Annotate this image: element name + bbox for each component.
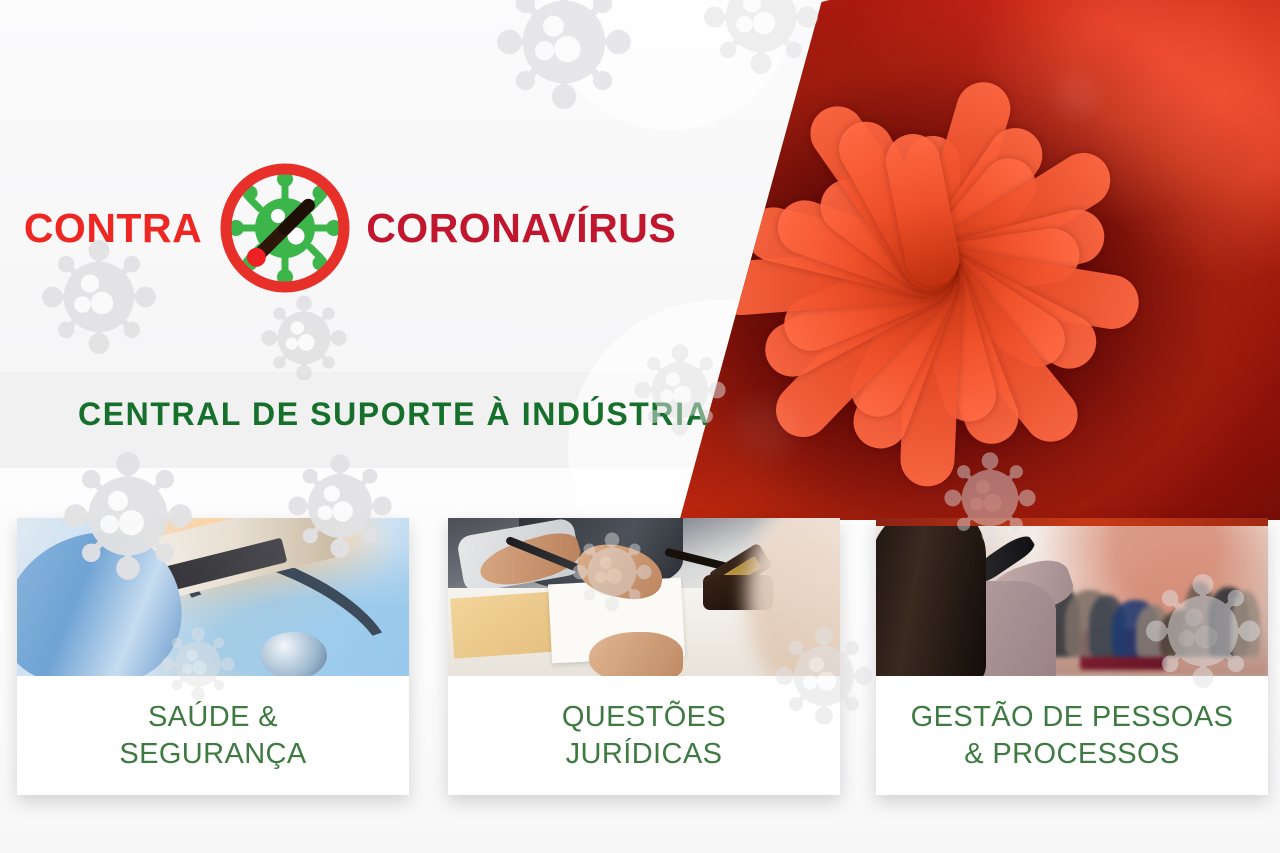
card-caption: GESTÃO DE PESSOAS & PROCESSOS [876, 676, 1268, 795]
brand-word-coronavirus: CORONAVÍRUS [366, 208, 676, 249]
poster-canvas: CONTRA [0, 0, 1280, 853]
card-thumbnail-legal [448, 518, 840, 676]
card-thumbnail-health [17, 518, 409, 676]
no-virus-prohibition-icon [218, 152, 352, 304]
card-caption: QUESTÕES JURÍDICAS [448, 676, 840, 795]
brand-word-contra: CONTRA [24, 208, 202, 249]
card-label-saude-seguranca: SAÚDE & SEGURANÇA [119, 699, 306, 772]
category-card-saude-seguranca[interactable]: SAÚDE & SEGURANÇA [17, 518, 409, 795]
card-caption: SAÚDE & SEGURANÇA [17, 676, 409, 795]
page-title: CENTRAL DE SUPORTE À INDÚSTRIA [78, 396, 710, 433]
brand-logo: CONTRA [0, 168, 700, 288]
card-thumbnail-people [876, 518, 1268, 676]
card-label-gestao-pessoas-processos: GESTÃO DE PESSOAS & PROCESSOS [911, 699, 1234, 772]
category-card-questoes-juridicas[interactable]: QUESTÕES JURÍDICAS [448, 518, 840, 795]
category-card-gestao-pessoas-processos[interactable]: GESTÃO DE PESSOAS & PROCESSOS [876, 518, 1268, 795]
card-label-questoes-juridicas: QUESTÕES JURÍDICAS [562, 699, 726, 772]
category-card-list: SAÚDE & SEGURANÇA [0, 518, 1280, 800]
